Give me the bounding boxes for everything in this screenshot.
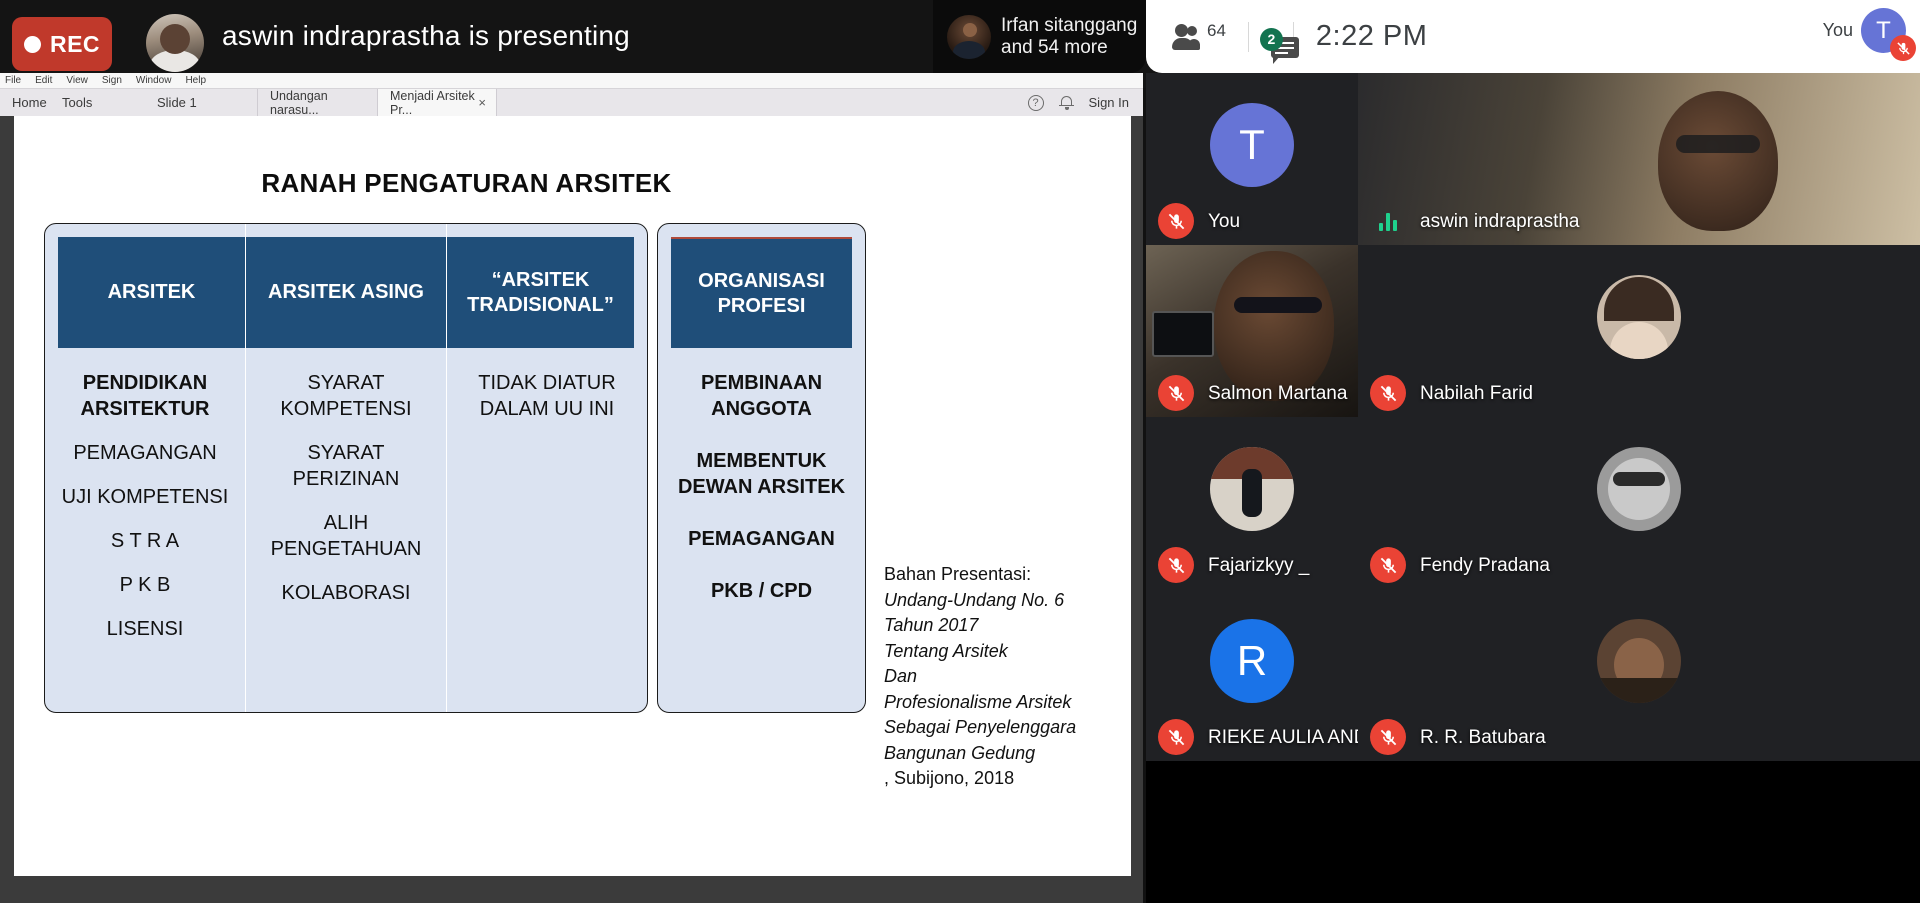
reference-line: Bahan Presentasi: xyxy=(884,562,1104,588)
column-header: ARSITEK ASING xyxy=(246,237,446,348)
participants-button[interactable]: 64 xyxy=(1172,24,1226,50)
reference-line: Undang-Undang No. 6 xyxy=(884,588,1104,614)
help-icon[interactable]: ? xyxy=(1028,95,1044,111)
participant-grid: T You aswin indraprastha xyxy=(1146,73,1920,903)
table-cell: ALIH PENGETAHUAN xyxy=(254,510,438,562)
bell-icon[interactable] xyxy=(1060,96,1073,110)
mic-off-icon xyxy=(1158,547,1194,583)
mic-off-icon xyxy=(1370,719,1406,755)
reference-line: , Subijono, 2018 xyxy=(884,766,1104,792)
record-dot-icon xyxy=(24,36,41,53)
active-speaker-chip[interactable]: Irfan sitanggang and 54 more xyxy=(933,0,1146,73)
participant-name: Salmon Martana xyxy=(1208,383,1347,405)
menu-item-view[interactable]: View xyxy=(66,75,88,86)
recording-indicator[interactable]: REC xyxy=(12,17,112,71)
participant-name: Fajarizkyy _ xyxy=(1208,555,1309,577)
active-speaker-avatar xyxy=(947,15,991,59)
menu-item-help[interactable]: Help xyxy=(185,75,206,86)
document-tab-bar: Home Tools Slide 1 Undangan narasu... Me… xyxy=(0,88,1143,116)
table-cell: S T R A xyxy=(111,528,179,554)
table-cell: KOLABORASI xyxy=(282,580,411,606)
tab-tools[interactable]: Tools xyxy=(62,89,157,116)
avatar-photo xyxy=(1210,447,1294,531)
people-icon xyxy=(1172,24,1206,50)
avatar: R xyxy=(1210,619,1294,703)
column-header: “ARSITEK TRADISIONAL” xyxy=(447,237,634,348)
reference-line: Tahun 2017 xyxy=(884,613,1104,639)
divider xyxy=(1248,22,1249,52)
participant-name: Fendy Pradana xyxy=(1420,555,1550,577)
participant-name: R. R. Batubara xyxy=(1420,727,1546,749)
box-header: ORGANISASI PROFESI xyxy=(671,237,852,348)
mic-off-icon xyxy=(1158,203,1194,239)
table-column-arsitek-tradisional: “ARSITEK TRADISIONAL” TIDAK DIATUR DALAM… xyxy=(446,224,647,712)
sign-in-button[interactable]: Sign In xyxy=(1089,95,1129,110)
participant-count: 64 xyxy=(1207,21,1226,41)
regulation-table: ARSITEK PENDIDIKAN ARSITEKTUR PEMAGANGAN… xyxy=(44,223,648,713)
active-speaker-more: and 54 more xyxy=(1001,37,1137,59)
participant-name: aswin indraprastha xyxy=(1420,211,1579,233)
box-cell: PEMBINAAN ANGGOTA xyxy=(666,370,857,422)
participant-name: Nabilah Farid xyxy=(1420,383,1533,405)
avatar-photo xyxy=(1597,619,1681,703)
tab-home[interactable]: Home xyxy=(0,89,62,116)
column-body: TIDAK DIATUR DALAM UU INI xyxy=(447,348,647,712)
slide-canvas: RANAH PENGATURAN ARSITEK ARSITEK PENDIDI… xyxy=(14,116,1131,876)
self-tile-header[interactable]: You T xyxy=(1823,8,1906,53)
table-cell: SYARAT KOMPETENSI xyxy=(254,370,438,422)
reference-text-block: Bahan Presentasi: Undang-Undang No. 6 Ta… xyxy=(884,562,1104,792)
active-speaker-name: Irfan sitanggang xyxy=(1001,15,1137,37)
participant-tile-you[interactable]: T You xyxy=(1146,73,1358,245)
participant-tile-batubara[interactable]: R. R. Batubara xyxy=(1358,589,1920,761)
box-cell: PEMAGANGAN xyxy=(688,526,835,552)
pdf-page-area: RANAH PENGATURAN ARSITEK ARSITEK PENDIDI… xyxy=(0,116,1143,903)
table-column-arsitek-asing: ARSITEK ASING SYARAT KOMPETENSI SYARAT P… xyxy=(245,224,446,712)
participant-tile-fajarizkyy[interactable]: Fajarizkyy _ xyxy=(1146,417,1358,589)
participant-tile-nabilah[interactable]: Nabilah Farid xyxy=(1358,245,1920,417)
box-cell: PKB / CPD xyxy=(711,578,812,604)
speaking-indicator-icon xyxy=(1370,203,1406,239)
column-body: SYARAT KOMPETENSI SYARAT PERIZINAN ALIH … xyxy=(246,348,446,712)
audio-level-bars xyxy=(1379,211,1397,231)
reference-line: Sebagai Penyelenggara xyxy=(884,715,1104,741)
table-column-arsitek: ARSITEK PENDIDIKAN ARSITEKTUR PEMAGANGAN… xyxy=(45,224,245,712)
table-cell: P K B xyxy=(120,572,171,598)
reference-line: Profesionalisme Arsitek xyxy=(884,690,1104,716)
recording-label: REC xyxy=(50,31,100,58)
meeting-controls-bar: 64 2 2:22 PM You T xyxy=(1146,0,1920,73)
table-cell: PEMAGANGAN xyxy=(73,440,216,466)
meeting-clock: 2:22 PM xyxy=(1316,20,1428,53)
table-cell: SYARAT PERIZINAN xyxy=(254,440,438,492)
mic-off-icon xyxy=(1158,375,1194,411)
tab-label: Menjadi Arsitek Pr... xyxy=(390,89,478,117)
meet-presentation-screen: REC aswin indraprastha is presenting Irf… xyxy=(0,0,1920,903)
avatar-photo xyxy=(1597,447,1681,531)
acrobat-window: File Edit View Sign Window Help Home Too… xyxy=(0,73,1143,903)
column-body: PENDIDIKAN ARSITEKTUR PEMAGANGAN UJI KOM… xyxy=(45,348,245,712)
participant-tile-salmon[interactable]: Salmon Martana xyxy=(1146,245,1358,417)
menu-item-edit[interactable]: Edit xyxy=(35,75,52,86)
box-cell: MEMBENTUK DEWAN ARSITEK xyxy=(666,448,857,500)
reference-line: Tentang Arsitek xyxy=(884,639,1104,665)
tab-document-undangan[interactable]: Undangan narasu... xyxy=(257,89,377,116)
tab-slide[interactable]: Slide 1 xyxy=(157,89,257,116)
avatar-photo xyxy=(1597,275,1681,359)
menu-item-window[interactable]: Window xyxy=(136,75,172,86)
menu-item-sign[interactable]: Sign xyxy=(102,75,122,86)
participant-tile-aswin[interactable]: aswin indraprastha xyxy=(1358,73,1920,245)
participant-tile-fendy[interactable]: Fendy Pradana xyxy=(1358,417,1920,589)
menu-item-file[interactable]: File xyxy=(5,75,21,86)
participant-tile-rieke[interactable]: R RIEKE AULIA ANDINI xyxy=(1146,589,1358,761)
reference-line: Dan xyxy=(884,664,1104,690)
mic-off-icon xyxy=(1370,547,1406,583)
close-icon[interactable]: × xyxy=(478,95,486,110)
chat-unread-badge: 2 xyxy=(1260,28,1283,51)
presenter-avatar xyxy=(146,14,204,72)
tabbar-right-controls: ? Sign In xyxy=(1028,89,1143,116)
reference-line: Bangunan Gedung xyxy=(884,741,1104,767)
column-header: ARSITEK xyxy=(58,237,245,348)
slide-title: RANAH PENGATURAN ARSITEK xyxy=(14,168,919,199)
menu-bar: File Edit View Sign Window Help xyxy=(0,73,1143,88)
organisasi-profesi-box: ORGANISASI PROFESI PEMBINAAN ANGGOTA MEM… xyxy=(657,223,866,713)
presenting-status-text: aswin indraprastha is presenting xyxy=(222,20,630,52)
mic-off-icon xyxy=(1370,375,1406,411)
table-cell: PENDIDIKAN ARSITEKTUR xyxy=(53,370,237,422)
table-cell: UJI KOMPETENSI xyxy=(62,484,229,510)
mic-off-icon[interactable] xyxy=(1890,35,1916,61)
box-body: PEMBINAAN ANGGOTA MEMBENTUK DEWAN ARSITE… xyxy=(658,348,865,604)
self-label: You xyxy=(1823,20,1853,41)
avatar: T xyxy=(1210,103,1294,187)
mic-off-icon xyxy=(1158,719,1194,755)
table-cell: TIDAK DIATUR DALAM UU INI xyxy=(455,370,639,422)
participant-name: You xyxy=(1208,211,1240,233)
participant-name: RIEKE AULIA ANDINI xyxy=(1208,727,1358,749)
table-cell: LISENSI xyxy=(107,616,184,642)
tab-document-menjadi-arsitek[interactable]: Menjadi Arsitek Pr... × xyxy=(377,89,497,116)
